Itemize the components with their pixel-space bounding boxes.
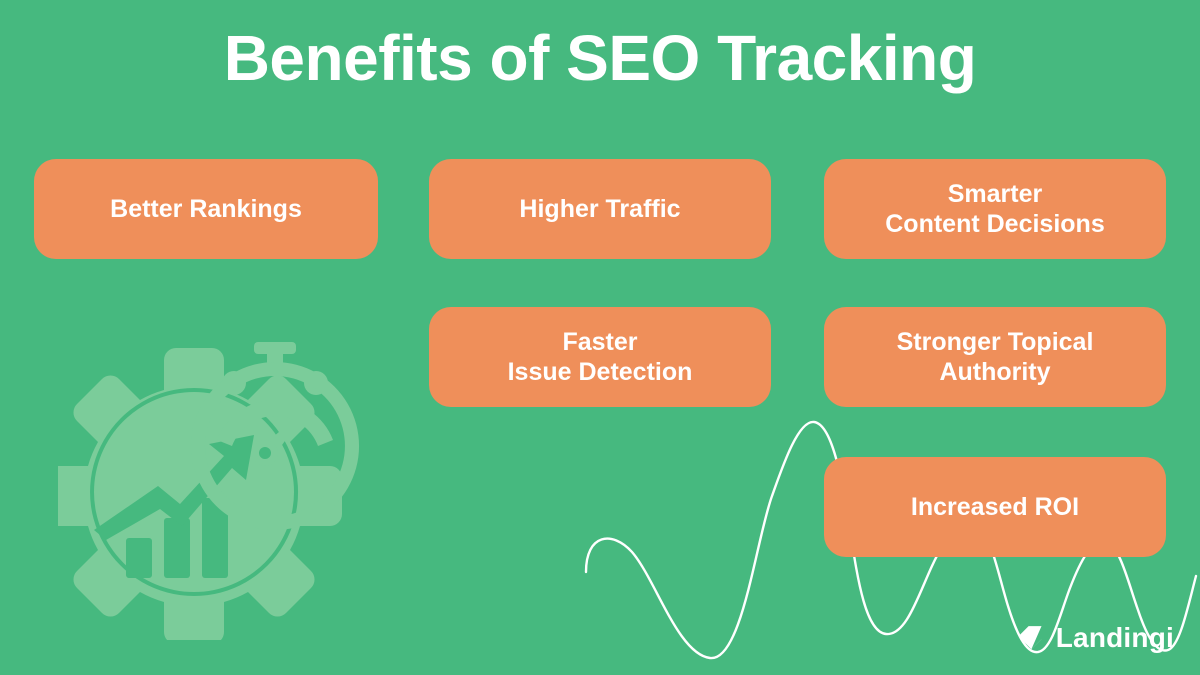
benefit-card-line: Content Decisions	[885, 209, 1104, 240]
benefit-card-better-rankings[interactable]: Better Rankings	[34, 159, 378, 259]
benefit-card-higher-traffic[interactable]: Higher Traffic	[429, 159, 771, 259]
infographic-canvas: Benefits of SEO Tracking Better Rankings…	[0, 0, 1200, 675]
benefit-card-line: Authority	[897, 357, 1094, 388]
benefit-card-line: Better Rankings	[110, 194, 302, 225]
benefit-card-text: Smarter Content Decisions	[885, 179, 1104, 240]
benefit-card-text: Increased ROI	[911, 492, 1079, 523]
benefit-card-text: Faster Issue Detection	[508, 327, 693, 388]
benefit-card-text: Stronger Topical Authority	[897, 327, 1094, 388]
benefit-card-smarter-content-decisions[interactable]: Smarter Content Decisions	[824, 159, 1166, 259]
benefit-card-line: Smarter	[885, 179, 1104, 210]
landingi-diamond-mark	[1015, 623, 1045, 653]
benefit-card-stronger-topical-authority[interactable]: Stronger Topical Authority	[824, 307, 1166, 407]
landingi-wordmark: Landingi	[1056, 624, 1174, 652]
benefit-card-text: Higher Traffic	[519, 194, 680, 225]
gear-growth-chart-stopwatch-icon	[58, 340, 368, 640]
benefit-card-line: Faster	[508, 327, 693, 358]
benefit-card-line: Higher Traffic	[519, 194, 680, 225]
landingi-logo[interactable]: Landingi	[1015, 623, 1174, 653]
benefit-card-line: Issue Detection	[508, 357, 693, 388]
benefit-card-line: Increased ROI	[911, 492, 1079, 523]
benefit-card-faster-issue-detection[interactable]: Faster Issue Detection	[429, 307, 771, 407]
benefit-card-increased-roi[interactable]: Increased ROI	[824, 457, 1166, 557]
benefit-card-text: Better Rankings	[110, 194, 302, 225]
page-title: Benefits of SEO Tracking	[0, 26, 1200, 90]
benefit-card-line: Stronger Topical	[897, 327, 1094, 358]
